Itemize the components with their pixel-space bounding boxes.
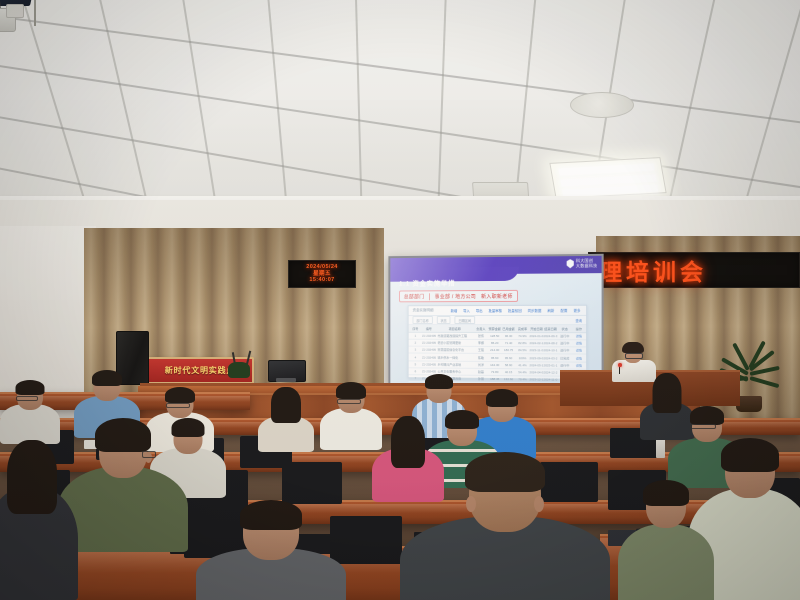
- presenter-glasses: [625, 353, 643, 359]
- person-hair: [721, 438, 779, 472]
- table-column-header: 编号: [422, 325, 436, 333]
- person-hair: [336, 382, 366, 399]
- table-cell: 2024-08-20: [544, 340, 558, 347]
- app-breadcrumb: 资金实施明细: [412, 308, 433, 313]
- table-cell: 1: [409, 333, 422, 340]
- led-clock-display: 2024/05/24 星期五 15:40:07: [288, 260, 356, 288]
- slide-tab-0: 总部部门: [404, 293, 425, 300]
- audience-member: [618, 480, 714, 600]
- table-cell: 2023-09-05: [529, 354, 543, 361]
- person-hair: [16, 380, 45, 395]
- table-cell: 张伟: [474, 333, 488, 340]
- table-column-header: 开始日期: [529, 325, 543, 333]
- person-hair: [643, 480, 689, 506]
- table-cell: 已完成: [558, 354, 572, 361]
- person-glasses: [16, 396, 38, 401]
- table-cell: 2023-11-01: [529, 347, 543, 354]
- table-cell: 95.60: [488, 354, 502, 361]
- table-cell: 进行中: [558, 333, 572, 340]
- person-glasses: [166, 403, 190, 408]
- table-column-header: 预算金额: [488, 325, 502, 333]
- person-hair: [690, 406, 724, 425]
- person-torso: [0, 404, 60, 444]
- person-hair: [240, 500, 302, 530]
- table-cell: 进行中: [558, 347, 572, 354]
- table-column-header: 状态: [558, 325, 572, 333]
- table-cell: ZJ-20240503: [422, 347, 436, 354]
- table-cell: 86.20: [488, 340, 502, 347]
- slide-tab-group: 总部部门 事业部 / 地方公司 新入职新老师: [399, 290, 518, 302]
- person-glasses: [690, 424, 716, 429]
- table-cell: 详情: [572, 354, 586, 361]
- person-hair: [7, 440, 57, 514]
- table-cell: 王强: [474, 347, 488, 354]
- toolbar-button-6: 刷新: [546, 308, 556, 313]
- presenter-hair: [622, 342, 644, 353]
- table-cell: 2024-10-15: [544, 347, 558, 354]
- table-cell: 74.9%: [516, 333, 530, 340]
- toolbar-button-7: 配置: [559, 308, 569, 313]
- table-column-header: 结束日期: [544, 325, 558, 333]
- table-cell: 2025-01-10: [544, 361, 558, 368]
- audience-member: [400, 452, 610, 600]
- table-cell: 2024-03-28: [544, 354, 558, 361]
- app-toolbar: 资金实施明细 新增 导入 导出 批量审核 批量驳回 同步数据 刷新 配置 更多: [409, 306, 586, 316]
- person-hair: [165, 387, 195, 403]
- table-cell: 84.5%: [516, 347, 530, 354]
- led-banner-right-text: 理培训会: [589, 253, 707, 287]
- table-cell: 李娜: [474, 340, 488, 347]
- table-cell: 进行中: [558, 340, 572, 347]
- toolbar-button-8: 更多: [572, 308, 582, 313]
- ceiling-speaker: [570, 92, 634, 118]
- person-hair: [92, 370, 122, 386]
- filter-field-1: 状态: [437, 316, 451, 324]
- table-cell: 3: [409, 346, 422, 353]
- audience-member: [0, 440, 78, 600]
- filter-search-button: 查询: [575, 317, 582, 322]
- wall-plaque-text: 新时代文明实践点: [165, 365, 235, 376]
- filter-field-0: 部门名称: [412, 316, 432, 324]
- toolbar-button-5: 同步数据: [526, 308, 543, 313]
- table-column-header: 完成率: [516, 325, 530, 333]
- table-cell: 详情: [572, 340, 586, 347]
- led-clock-time: 15:40:07: [309, 277, 334, 284]
- slide-app-window: 资金实施明细 新增 导入 导出 批量审核 批量驳回 同步数据 刷新 配置 更多 …: [408, 305, 587, 380]
- table-column-header: 负责人: [474, 325, 488, 333]
- toolbar-button-3: 批量审核: [487, 308, 504, 313]
- filter-field-2: 日期区间: [455, 316, 475, 324]
- toolbar-button-1: 导入: [462, 308, 472, 313]
- toolbar-button-2: 导出: [474, 308, 484, 313]
- table-column-header: 序号: [409, 325, 422, 333]
- table-cell: 71.40: [502, 340, 516, 347]
- slide-tab-2: 新入职新老师: [481, 292, 513, 299]
- conference-room-photo: 理培训会 2024/05/24 星期五 15:40:07 新时代文明实践点 科大: [0, 0, 800, 600]
- table-cell: 详情: [572, 347, 586, 354]
- ceiling-light-panel: [549, 157, 666, 199]
- audience-chair: [282, 462, 342, 504]
- table-cell: 128.50: [488, 333, 502, 340]
- podium-plant: [228, 362, 250, 378]
- person-torso: [618, 524, 714, 600]
- table-cell: 2024-02-12: [529, 340, 543, 347]
- table-cell: 100%: [516, 354, 530, 361]
- person-hair: [465, 452, 545, 492]
- person-hair: [95, 418, 151, 452]
- person-hair: [445, 410, 479, 429]
- projection-screen: 科大国创 大数据科技 1.1 资金实施举措 总部部门 事业部 / 地方公司 新入…: [388, 254, 603, 389]
- podium-monitor-base: [276, 378, 296, 382]
- table-cell: 2: [409, 340, 422, 347]
- table-column-header: 已用金额: [502, 325, 516, 333]
- toolbar-button-0: 新增: [449, 308, 459, 313]
- table-cell: 180.75: [502, 347, 516, 354]
- tab-separator: [429, 293, 430, 300]
- slide-tab-1: 事业部 / 地方公司: [435, 293, 476, 300]
- table-cell: 详情: [572, 333, 586, 340]
- person-hair: [271, 387, 301, 423]
- presenter-mic-stem: [619, 366, 620, 374]
- slide-title: 1.1 资金实施举措: [399, 277, 455, 287]
- table-cell: 214.00: [488, 347, 502, 354]
- audience-member: [258, 386, 314, 448]
- table-column-header: 项目名称: [436, 325, 474, 333]
- person-hair: [425, 374, 453, 389]
- table-cell: 82.8%: [516, 340, 530, 347]
- person-glasses: [337, 399, 361, 404]
- person-hair: [486, 389, 518, 407]
- led-banner-right: 理培训会: [588, 252, 800, 288]
- person-ear: [466, 496, 476, 512]
- person-ear: [534, 496, 544, 512]
- company-logo: 科大国创 大数据科技: [567, 259, 598, 268]
- table-cell: 96.30: [502, 333, 516, 340]
- audience-member: [0, 378, 60, 440]
- projected-slide: 科大国创 大数据科技 1.1 资金实施举措 总部部门 事业部 / 地方公司 新入…: [390, 256, 601, 386]
- slide-header-band: 科大国创 大数据科技: [390, 256, 601, 275]
- table-cell: 详情: [572, 362, 586, 369]
- logo-text-secondary: 大数据科技: [576, 263, 598, 268]
- table-cell: 2024-01-08: [529, 333, 543, 340]
- table-cell: ZJ-20240502: [422, 340, 436, 347]
- table-cell: 2024-09-30: [544, 333, 558, 340]
- app-filter-bar: 部门名称 状态 日期区间 查询: [409, 316, 586, 325]
- person-glasses: [142, 451, 156, 458]
- table-cell: ZJ-20240501: [422, 333, 436, 340]
- table-cell: 95.60: [502, 354, 516, 361]
- toolbar-button-4: 批量驳回: [507, 308, 524, 313]
- table-column-header: 操作: [572, 325, 586, 333]
- presenter-microphone: [618, 363, 622, 367]
- audience-member: [196, 500, 346, 600]
- shield-icon: [567, 259, 574, 268]
